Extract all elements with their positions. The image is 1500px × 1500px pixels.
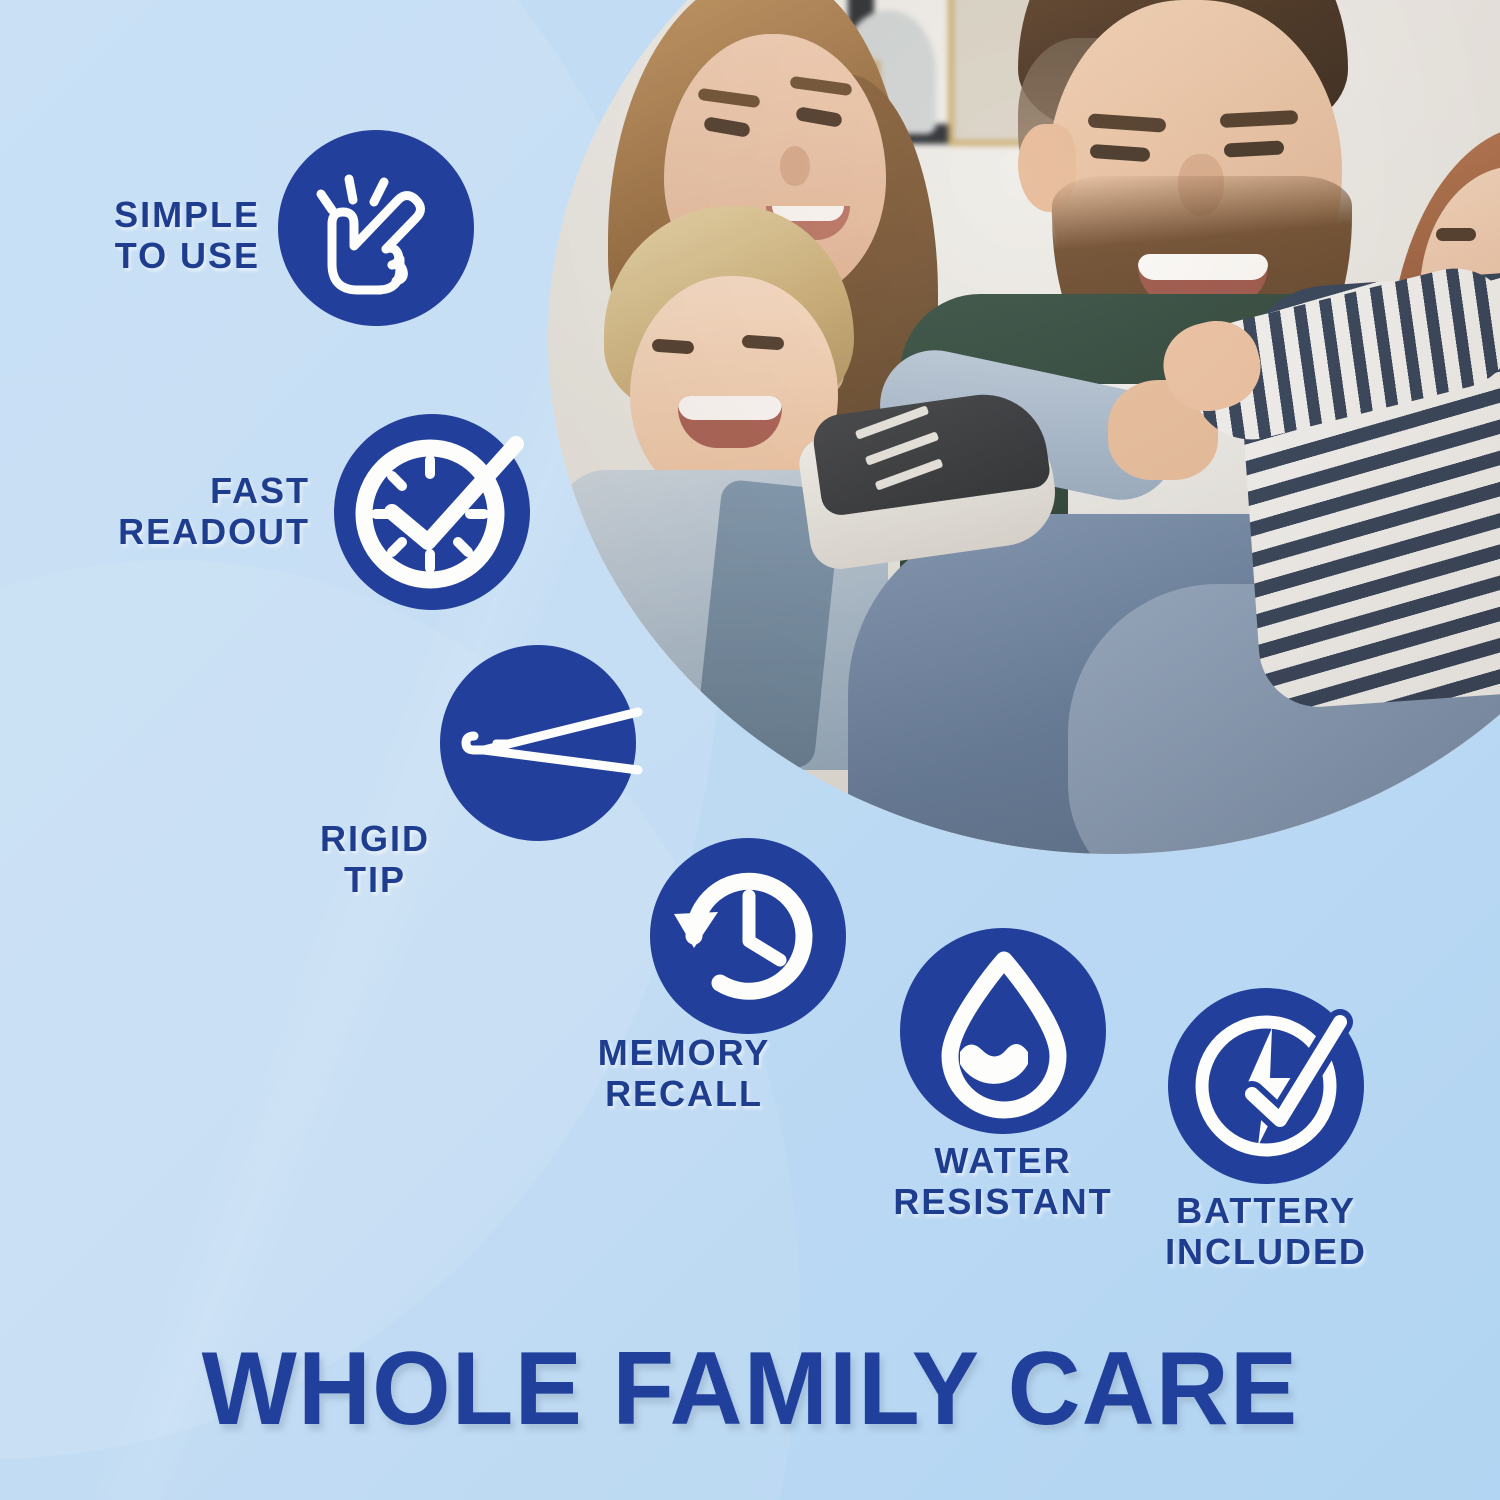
snapping-fingers-icon (302, 156, 450, 300)
infographic-canvas: SIMPLE TO USE FAST READOUT (0, 0, 1500, 1500)
clock-check-icon (348, 428, 524, 598)
family-photo (548, 0, 1500, 854)
feature-label-memory-recall: MEMORY RECALL (564, 1032, 804, 1114)
feature-label-water-resistant: WATER RESISTANT (868, 1140, 1138, 1222)
water-drop-icon (930, 948, 1078, 1116)
feature-label-battery-included: BATTERY INCLUDED (1126, 1190, 1406, 1272)
battery-bolt-check-icon (1188, 1000, 1352, 1164)
feature-label-fast-readout: FAST READOUT (110, 470, 310, 552)
page-title: WHOLE FAMILY CARE (23, 1330, 1478, 1449)
feature-label-simple-to-use: SIMPLE TO USE (60, 194, 260, 276)
clock-history-icon (668, 856, 830, 1016)
feature-label-rigid-tip: RIGID TIP (280, 818, 470, 900)
thermometer-tip-icon (452, 700, 642, 786)
